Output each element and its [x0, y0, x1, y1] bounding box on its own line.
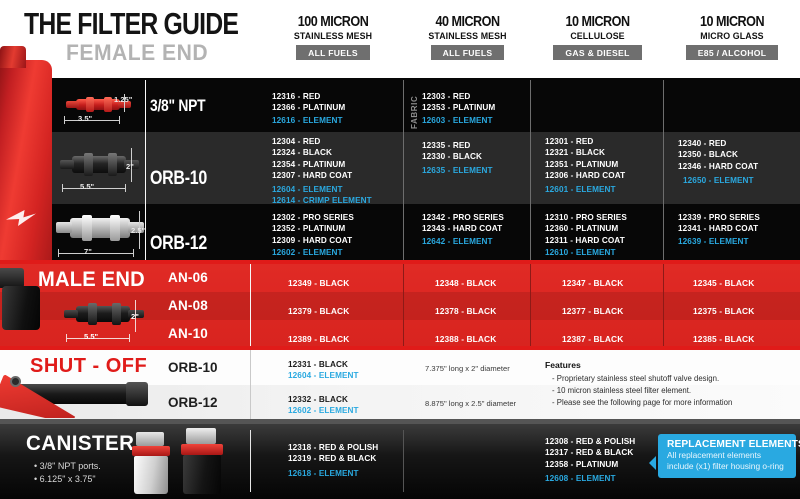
sku-item: 12375 - BLACK [693, 306, 754, 316]
sku-item: 12316 - RED [272, 91, 345, 102]
sku-item: 12335 - RED [422, 140, 493, 151]
dimension-diameter-npt: 1.25" [114, 95, 132, 104]
column-divider [403, 264, 404, 348]
sku-item: 12349 - BLACK [288, 278, 349, 288]
sku-item: 12340 - RED [678, 138, 758, 149]
sku-item: 12346 - HARD COAT [678, 161, 758, 172]
feature-item: - Please see the following page for more… [552, 398, 732, 407]
sku-item: 12347 - BLACK [562, 278, 623, 288]
sku-cell-npt-40: 12303 - RED 12353 - PLATINUM 12603 - ELE… [422, 91, 495, 126]
sku-item: 12319 - RED & BLACK [288, 453, 378, 464]
sku-item: 12341 - HARD COAT [678, 223, 760, 234]
sku-item-element: 12639 - ELEMENT [678, 236, 760, 247]
sku-item-element: 12604 - ELEMENT [288, 370, 359, 381]
sku-cell-orb12-10mg: 12339 - PRO SERIES 12341 - HARD COAT 126… [678, 212, 760, 247]
sku-item: 12331 - BLACK [288, 359, 359, 370]
sku-item: 12360 - PLATINUM [545, 223, 627, 234]
column-material-label: MICRO GLASS [667, 30, 796, 42]
sku-item: 12321 - BLACK [545, 147, 625, 158]
shutoff-fitting-orb10: ORB-10 [168, 360, 218, 375]
sku-item: 12330 - BLACK [422, 151, 493, 162]
sku-item: 12358 - PLATINUM [545, 459, 635, 470]
canister-bullet: • 6.125" x 3.75" [34, 474, 96, 484]
sku-item: 12306 - HARD COAT [545, 170, 625, 181]
sku-item: 12377 - BLACK [562, 306, 623, 316]
column-fuel-badge: ALL FUELS [296, 45, 370, 60]
shutoff-section: SHUT - OFF ORB-10 ORB-12 12331 - BLACK 1… [0, 350, 800, 420]
fitting-label-npt: 3/8" NPT [150, 97, 205, 116]
canister-sku-col1: 12318 - RED & POLISH 12319 - RED & BLACK… [288, 442, 378, 479]
sku-item: 12311 - HARD COAT [545, 235, 627, 246]
sku-item: 12317 - RED & BLACK [545, 447, 635, 458]
column-divider [663, 80, 664, 262]
section-separator-red [0, 346, 800, 350]
sku-male-10mg-0: 12345 - BLACK [693, 273, 754, 291]
replacement-elements-callout: REPLACEMENT ELEMENTS All replacement ele… [658, 434, 796, 478]
column-divider [250, 264, 251, 348]
sku-item-element: 12608 - ELEMENT [545, 473, 635, 484]
sku-cell-orb10-100: 12304 - RED 12324 - BLACK 12354 - PLATIN… [272, 136, 372, 206]
callout-line-2: include (x1) filter housing o-ring [667, 461, 788, 472]
sku-item: 12318 - RED & POLISH [288, 442, 378, 453]
canister-title: CANISTER [26, 432, 134, 456]
canister-bullet: • 3/8" NPT ports. [34, 461, 101, 471]
column-divider [663, 264, 664, 348]
sku-item: 12366 - PLATINUM [272, 102, 345, 113]
sku-male-10cel-1: 12377 - BLACK [562, 301, 623, 319]
sku-item-element: 12642 - ELEMENT [422, 236, 504, 247]
page-title: THE FILTER GUIDE [24, 8, 238, 39]
sku-item: 12304 - RED [272, 136, 372, 147]
sku-item: 12324 - BLACK [272, 147, 372, 158]
sku-item: 12379 - BLACK [288, 306, 349, 316]
column-material-label: CELLULOSE [534, 30, 660, 42]
feature-item: - 10 micron stainless steel filter eleme… [552, 386, 691, 395]
column-micron-label: 40 MICRON [414, 14, 521, 30]
dimension-length-orb10: 5.5" [80, 182, 94, 191]
column-divider [250, 350, 251, 420]
column-micron-label: 100 MICRON [273, 14, 392, 30]
sku-cell-npt-100: 12316 - RED 12366 - PLATINUM 12616 - ELE… [272, 91, 345, 126]
sku-cell-orb12-40: 12342 - PRO SERIES 12343 - HARD COAT 126… [422, 212, 504, 247]
fitting-label-orb12: ORB-12 [150, 233, 207, 255]
sku-item: 12351 - PLATINUM [545, 159, 625, 170]
canister-bullet-text: 3/8" NPT ports. [40, 461, 101, 471]
sku-item-element: 12650 - ELEMENT [683, 175, 758, 186]
shutoff-dimension-orb10: 7.375" long x 2" diameter [425, 364, 510, 373]
shutoff-fitting-orb12: ORB-12 [168, 395, 218, 410]
feature-item: - Proprietary stainless steel shutoff va… [552, 374, 719, 383]
sku-item: 12353 - PLATINUM [422, 102, 495, 113]
sku-male-40-0: 12348 - BLACK [435, 273, 496, 291]
sku-item: 12303 - RED [422, 91, 495, 102]
brand-logo-icon [6, 210, 36, 226]
sku-item: 12332 - BLACK [288, 394, 359, 405]
sku-item-element: 12614 - CRIMP ELEMENT [272, 195, 372, 206]
fabric-tag: FABRIC [410, 91, 419, 129]
column-divider [530, 80, 531, 262]
column-divider [403, 80, 404, 262]
sku-item-element: 12635 - ELEMENT [422, 165, 493, 176]
column-material-label: STAINLESS MESH [407, 30, 528, 42]
sku-male-100-1: 12379 - BLACK [288, 301, 349, 319]
title-block: THE FILTER GUIDE FEMALE END [24, 8, 292, 64]
sku-item-element: 12604 - ELEMENT [272, 184, 372, 195]
sku-item-element: 12616 - ELEMENT [272, 115, 345, 126]
callout-title: REPLACEMENT ELEMENTS [667, 439, 788, 450]
dimension-length-npt: 3.5" [78, 114, 92, 123]
sku-cell-orb10-10cel: 12301 - RED 12321 - BLACK 12351 - PLATIN… [545, 136, 625, 195]
sku-item-element: 12618 - ELEMENT [288, 468, 378, 479]
column-divider [530, 264, 531, 348]
sku-item-element: 12602 - ELEMENT [272, 247, 354, 258]
sku-item: 12302 - PRO SERIES [272, 212, 354, 223]
section-separator-red [0, 260, 800, 264]
male-end-section: MALE END 5.5" 2" AN-06 AN-08 AN-10 12349… [0, 264, 800, 348]
filter-guide-page: THE FILTER GUIDE FEMALE END 100 MICRON S… [0, 0, 800, 499]
canister-image-black [176, 428, 230, 494]
canister-section: CANISTER • 3/8" NPT ports. • 6.125" x 3.… [0, 424, 800, 499]
canister-sku-col3: 12308 - RED & POLISH 12317 - RED & BLACK… [545, 436, 635, 485]
fitting-label-an06: AN-06 [168, 270, 208, 285]
column-micron-label: 10 MICRON [542, 14, 654, 30]
sku-item: 12342 - PRO SERIES [422, 212, 504, 223]
sku-male-40-1: 12378 - BLACK [435, 301, 496, 319]
fitting-label-orb10: ORB-10 [150, 168, 207, 190]
column-material-label: STAINLESS MESH [266, 30, 401, 42]
sku-item: 12309 - HARD COAT [272, 235, 354, 246]
canister-bullet-text: 6.125" x 3.75" [40, 474, 96, 484]
canister-image-polish [126, 432, 176, 494]
male-end-title: MALE END [38, 268, 145, 292]
column-fuel-badge: E85 / ALCOHOL [686, 45, 779, 60]
bullet-dot-icon: • [34, 461, 37, 471]
female-end-table: 3/8" NPT 3.5" 1.25" 12316 - RED 12366 - … [0, 78, 800, 264]
section-separator-grey [0, 419, 800, 424]
sku-male-10cel-0: 12347 - BLACK [562, 273, 623, 291]
sku-item: 12339 - PRO SERIES [678, 212, 760, 223]
column-divider [403, 430, 404, 492]
sku-item-element: 12603 - ELEMENT [422, 115, 495, 126]
callout-line-1: All replacement elements [667, 450, 788, 461]
fitting-label-an08: AN-08 [168, 298, 208, 313]
column-header-10-micron-cellulose: 10 MICRON CELLULOSE GAS & DIESEL [531, 14, 664, 61]
column-fuel-badge: ALL FUELS [431, 45, 505, 60]
features-title: Features [545, 360, 581, 370]
bullet-dot-icon: • [34, 474, 37, 484]
sku-item: 12350 - BLACK [678, 149, 758, 160]
sku-item: 12352 - PLATINUM [272, 223, 354, 234]
sku-item: 12345 - BLACK [693, 278, 754, 288]
sku-item: 12348 - BLACK [435, 278, 496, 288]
column-divider [250, 430, 251, 492]
dimension-diameter-orb12: 2.5" [131, 226, 145, 235]
sku-item: 12301 - RED [545, 136, 625, 147]
sku-cell-orb12-100: 12302 - PRO SERIES 12352 - PLATINUM 1230… [272, 212, 354, 259]
dimension-diameter-orb10: 2" [126, 162, 134, 171]
sku-item-element: 12602 - ELEMENT [288, 405, 359, 416]
female-end-subtitle: FEMALE END [66, 41, 283, 64]
column-fuel-badge: GAS & DIESEL [553, 45, 641, 60]
column-header-10-micron-microglass: 10 MICRON MICRO GLASS E85 / ALCOHOL [664, 14, 800, 61]
sku-item-element: 12610 - ELEMENT [545, 247, 627, 258]
sku-cell-orb10-40: 12335 - RED 12330 - BLACK 12635 - ELEMEN… [422, 140, 493, 176]
sku-male-10mg-1: 12375 - BLACK [693, 301, 754, 319]
sku-item: 12354 - PLATINUM [272, 159, 372, 170]
dimension-length-orb12: 7" [84, 247, 92, 256]
dimension-diameter-male: 2" [131, 312, 139, 321]
sku-item: 12310 - PRO SERIES [545, 212, 627, 223]
shutoff-dimension-orb12: 8.875" long x 2.5" diameter [425, 399, 516, 408]
shutoff-title: SHUT - OFF [30, 355, 147, 378]
sku-item: 12307 - HARD COAT [272, 170, 372, 181]
column-micron-label: 10 MICRON [675, 14, 789, 30]
sku-cell-orb12-10cel: 12310 - PRO SERIES 12360 - PLATINUM 1231… [545, 212, 627, 259]
sku-male-100-0: 12349 - BLACK [288, 273, 349, 291]
column-header-40-micron: 40 MICRON STAINLESS MESH ALL FUELS [404, 14, 531, 61]
column-header-100-micron: 100 MICRON STAINLESS MESH ALL FUELS [262, 14, 404, 61]
sku-item: 12308 - RED & POLISH [545, 436, 635, 447]
sku-item: 12343 - HARD COAT [422, 223, 504, 234]
sku-item: 12378 - BLACK [435, 306, 496, 316]
fitting-label-an10: AN-10 [168, 326, 208, 341]
dimension-length-male: 5.5" [84, 332, 98, 341]
shutoff-sku-orb12: 12332 - BLACK 12602 - ELEMENT [288, 394, 359, 417]
sku-cell-orb10-10mg: 12340 - RED 12350 - BLACK 12346 - HARD C… [678, 138, 758, 187]
sku-item-element: 12601 - ELEMENT [545, 184, 625, 195]
shutoff-sku-orb10: 12331 - BLACK 12604 - ELEMENT [288, 359, 359, 382]
